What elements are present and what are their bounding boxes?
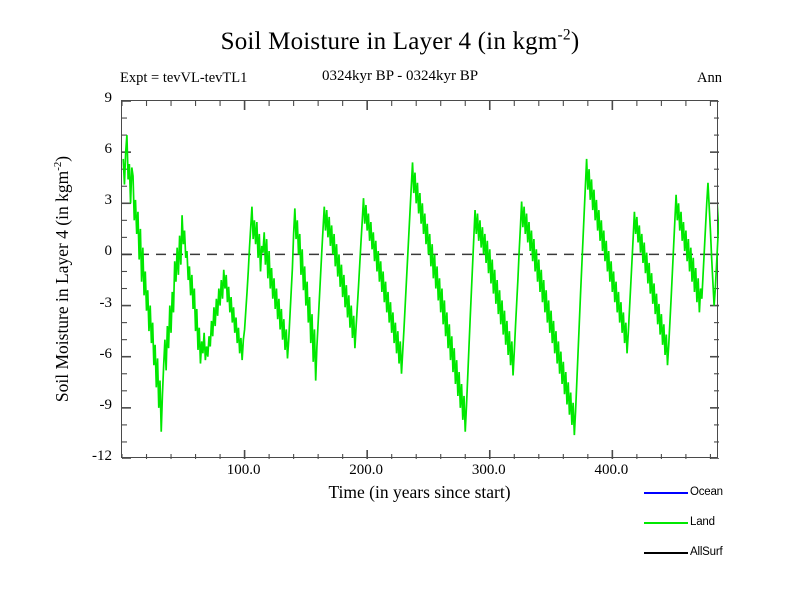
y-tick-label: 6 — [52, 141, 112, 158]
legend-swatch-allsurf — [644, 552, 688, 554]
x-tick-label: 200.0 — [331, 462, 401, 479]
x-tick-label: 100.0 — [209, 462, 279, 479]
legend-label: AllSurf — [690, 546, 722, 558]
experiment-label: Expt = tevVL-tevTL1 — [120, 70, 247, 87]
y-tick-label: 0 — [52, 243, 112, 260]
legend-swatch-land — [644, 522, 688, 524]
plot-area — [121, 100, 718, 458]
x-tick-label: 300.0 — [454, 462, 524, 479]
y-tick-label: -12 — [52, 448, 112, 465]
legend-label: Ocean — [690, 486, 723, 498]
x-axis-title: Time (in years since start) — [121, 482, 718, 503]
title-superscript: -2 — [558, 27, 571, 44]
y-tick-label: 9 — [52, 90, 112, 107]
figure-root: Soil Moisture in Layer 4 (in kgm-2) 0324… — [0, 0, 800, 600]
y-tick-label: -9 — [52, 397, 112, 414]
legend: OceanLandAllSurf — [640, 486, 790, 570]
y-tick-label: -3 — [52, 295, 112, 312]
legend-swatch-ocean — [644, 492, 688, 494]
page-title: Soil Moisture in Layer 4 (in kgm-2) — [0, 28, 800, 56]
plot-canvas — [122, 101, 719, 459]
period-label: Ann — [697, 70, 722, 87]
legend-item-land[interactable]: Land — [640, 516, 790, 530]
legend-item-allsurf[interactable]: AllSurf — [640, 546, 790, 560]
legend-item-ocean[interactable]: Ocean — [640, 486, 790, 500]
title-text: Soil Moisture in Layer 4 (in kgm — [221, 28, 558, 55]
y-axis-title-superscript: -2 — [52, 162, 64, 171]
x-tick-label: 400.0 — [576, 462, 646, 479]
y-tick-label: -6 — [52, 346, 112, 363]
legend-label: Land — [690, 516, 715, 528]
series-line-land — [123, 135, 719, 435]
title-tail: ) — [571, 28, 580, 55]
y-tick-label: 3 — [52, 192, 112, 209]
